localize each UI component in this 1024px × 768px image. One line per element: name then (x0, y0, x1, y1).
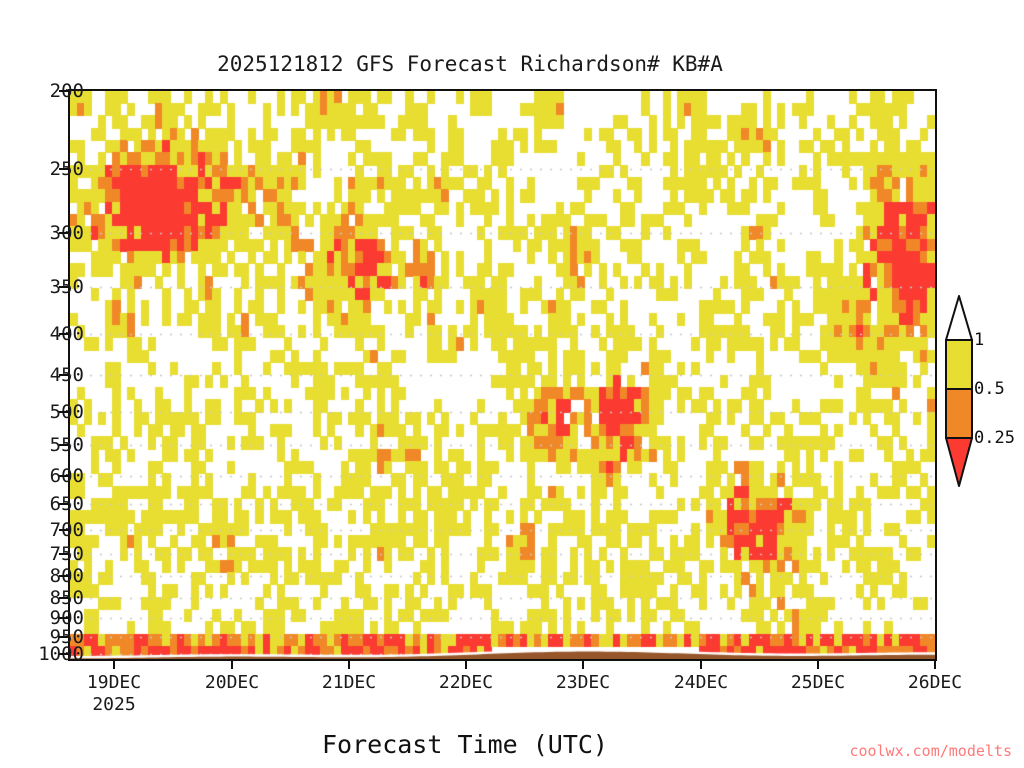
y-tick-mark (59, 475, 68, 477)
x-axis-tick-23DEC: 23DEC (556, 672, 610, 693)
y-axis-tick-650: 650 (0, 493, 84, 515)
chart-page: 2025121812 GFS Forecast Richardson# KB#A… (0, 0, 1024, 768)
colorbar-swatches (944, 294, 974, 488)
y-axis-tick-250: 250 (0, 158, 84, 180)
y-tick-mark (59, 374, 68, 376)
colorbar-label-025: 0.25 (974, 428, 1015, 448)
y-axis-tick-400: 400 (0, 323, 84, 345)
plot-area (68, 89, 937, 661)
x-axis-tick-26DEC: 26DEC (908, 672, 962, 693)
y-tick-mark (59, 653, 68, 655)
x-tick-mark (465, 661, 467, 669)
y-tick-mark (59, 503, 68, 505)
chart-title: 2025121812 GFS Forecast Richardson# KB#A (0, 52, 940, 76)
y-tick-mark (59, 168, 68, 170)
x-axis-tick-24DEC: 24DEC (674, 672, 728, 693)
y-axis-tick-300: 300 (0, 222, 84, 244)
y-axis-tick-200: 200 (0, 80, 84, 102)
y-axis-tick-350: 350 (0, 276, 84, 298)
y-tick-mark (59, 333, 68, 335)
heatmap-canvas (70, 91, 935, 659)
x-tick-mark (231, 661, 233, 669)
x-tick-mark (582, 661, 584, 669)
y-axis-tick-600: 600 (0, 465, 84, 487)
x-axis-tick-25DEC: 25DEC (791, 672, 845, 693)
y-axis-tick-500: 500 (0, 401, 84, 423)
colorbar: 1 0.5 0.25 (944, 294, 974, 488)
colorbar-label-1: 1 (974, 330, 984, 350)
y-tick-mark (59, 575, 68, 577)
y-tick-mark (59, 411, 68, 413)
y-tick-mark (59, 286, 68, 288)
x-axis-tick-19DEC: 19DEC (87, 672, 141, 693)
y-axis-tick-750: 750 (0, 543, 84, 565)
y-axis-tick-800: 800 (0, 565, 84, 587)
y-tick-mark (59, 444, 68, 446)
x-tick-mark (934, 661, 936, 669)
y-tick-mark (59, 617, 68, 619)
x-tick-mark (817, 661, 819, 669)
y-axis-tick-700: 700 (0, 519, 84, 541)
y-tick-mark (59, 90, 68, 92)
y-tick-mark (59, 597, 68, 599)
y-axis-tick-550: 550 (0, 434, 84, 456)
x-axis-tick-21DEC: 21DEC (322, 672, 376, 693)
y-axis-tick-450: 450 (0, 364, 84, 386)
colorbar-label-05: 0.5 (974, 379, 1005, 399)
x-tick-mark (700, 661, 702, 669)
y-axis-tick-1000: 1000 (0, 643, 84, 665)
x-axis-tick-22DEC: 22DEC (439, 672, 493, 693)
x-axis-tick-20DEC: 20DEC (205, 672, 259, 693)
x-axis-year-label: 2025 (92, 694, 135, 715)
y-tick-mark (59, 636, 68, 638)
y-tick-mark (59, 553, 68, 555)
y-tick-mark (59, 232, 68, 234)
y-axis-tick-850: 850 (0, 587, 84, 609)
watermark: coolwx.com/modelts (849, 742, 1012, 760)
x-axis-label: Forecast Time (UTC) (0, 730, 930, 759)
x-tick-mark (113, 661, 115, 669)
y-tick-mark (59, 529, 68, 531)
x-tick-mark (348, 661, 350, 669)
